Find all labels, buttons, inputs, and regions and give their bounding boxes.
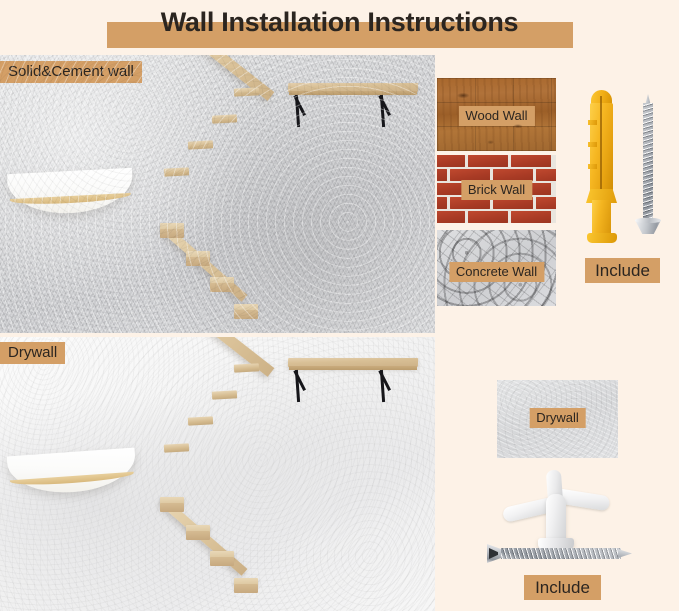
brick <box>437 211 465 223</box>
ramp-cleat-1 <box>234 363 259 372</box>
include-banner-top: Include <box>585 258 660 283</box>
ramp-cleat-3 <box>188 416 213 425</box>
wood-wall-caption: Wood Wall <box>458 106 534 126</box>
drywall-swatch: Drywall <box>497 380 618 458</box>
ramp-cleat-1 <box>234 87 259 96</box>
drywall-label: Drywall <box>0 342 65 364</box>
perch-body <box>7 168 134 216</box>
ramp-plank <box>185 55 275 101</box>
brick-wall-swatch: Brick Wall <box>437 155 556 223</box>
include-banner-bottom: Include <box>524 575 601 600</box>
screw-threaded-shank <box>501 548 621 559</box>
ramp-cleat-2 <box>212 390 237 399</box>
brick-wall-caption: Brick Wall <box>461 180 532 200</box>
stair-carpet-4 <box>234 584 258 593</box>
stair-carpet-2 <box>186 257 210 266</box>
ramp-cleat-4 <box>164 443 189 452</box>
anchor-barb-3 <box>588 164 597 169</box>
drywall-photo: Drywall <box>0 337 435 611</box>
stair-carpet-1 <box>160 503 184 512</box>
cement-wall-photo: Solid&Cement wall <box>0 55 435 333</box>
brick <box>536 197 556 209</box>
ramp-cleat-2 <box>212 114 237 123</box>
brick <box>536 169 556 181</box>
horizontal-screw <box>487 540 633 566</box>
brick <box>468 211 508 223</box>
anchor-barb-1 <box>588 120 597 125</box>
screw-head-top <box>635 218 661 223</box>
shelf-front-edge <box>289 91 417 95</box>
screw-threaded-shank <box>643 103 653 223</box>
ramp-cleat-4 <box>164 167 189 176</box>
drywall-swatch-caption: Drywall <box>529 408 586 428</box>
page-title: Wall Installation Instructions <box>0 2 679 42</box>
yellow-expansion-anchor <box>585 90 619 245</box>
cement-wall-label: Solid&Cement wall <box>0 61 142 83</box>
brick <box>511 211 551 223</box>
brick <box>468 155 508 167</box>
ramp-plank <box>185 337 275 377</box>
screw-point <box>618 549 632 558</box>
page-title-area: Wall Installation Instructions <box>0 0 679 55</box>
brick <box>437 197 447 209</box>
installation-instructions-page: Wall Installation Instructions <box>0 0 679 611</box>
stair-carpet-4 <box>234 310 258 319</box>
brick <box>437 155 465 167</box>
ramp-cleat-3 <box>188 140 213 149</box>
stair-carpet-3 <box>210 557 234 566</box>
wood-wall-swatch: Wood Wall <box>437 78 556 151</box>
stair-carpet-2 <box>186 531 210 540</box>
concrete-wall-swatch: Concrete Wall <box>437 230 556 306</box>
stair-carpet-1 <box>160 229 184 238</box>
anchor-barb-2 <box>588 142 597 147</box>
brick <box>437 169 447 181</box>
stair-carpet-3 <box>210 283 234 292</box>
vertical-screw <box>633 94 663 246</box>
anchor-body <box>592 200 611 236</box>
toggle-body <box>546 494 566 542</box>
brick <box>511 155 551 167</box>
anchor-collar <box>587 233 617 243</box>
concrete-wall-caption: Concrete Wall <box>449 262 544 282</box>
shelf-front-edge <box>289 366 417 370</box>
